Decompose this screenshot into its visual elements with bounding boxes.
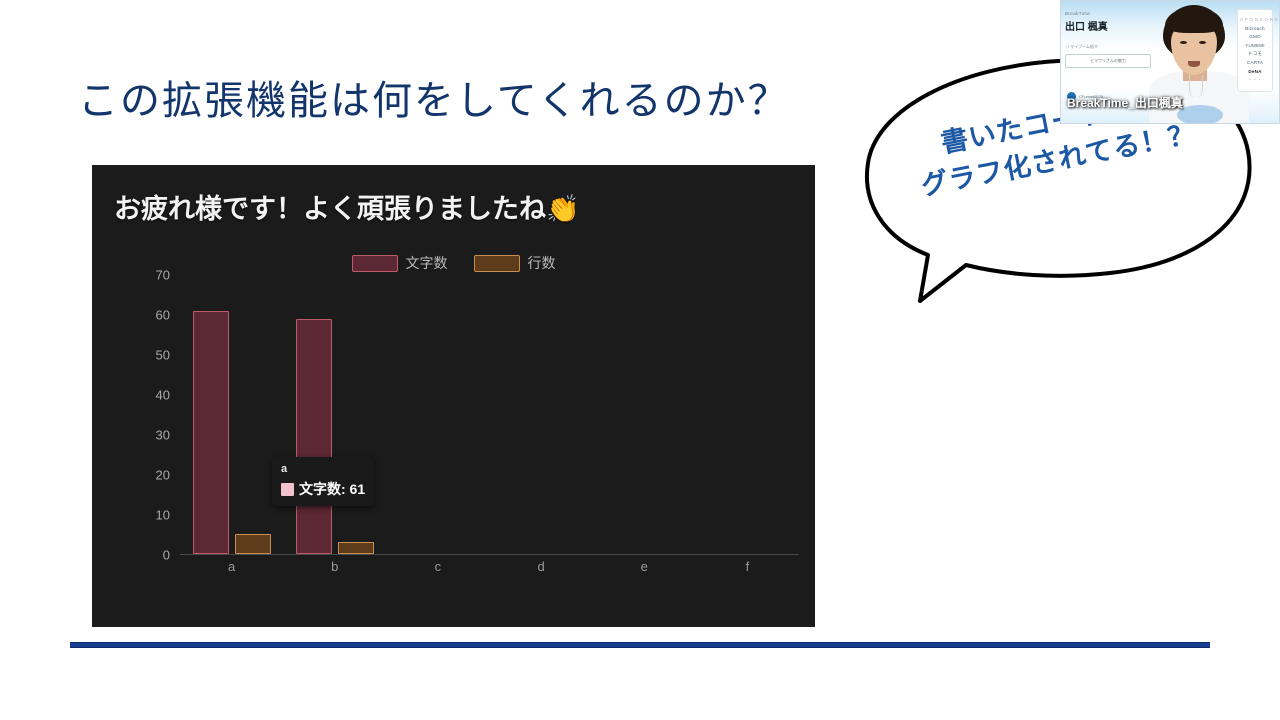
webcam-person-fringe	[1165, 7, 1223, 33]
plot-grid	[180, 275, 799, 555]
legend-label-chars: 文字数	[406, 253, 448, 273]
bar-a-lines[interactable]	[235, 534, 271, 554]
chart-legend: 文字数 行数	[92, 253, 815, 273]
y-axis-tick: 20	[156, 468, 170, 483]
bar-group[interactable]	[593, 275, 696, 554]
y-axis: 010203040506070	[140, 275, 174, 555]
y-axis-tick: 0	[163, 548, 170, 563]
bar-b-lines[interactable]	[338, 542, 374, 554]
x-axis-tick: c	[386, 555, 489, 579]
x-axis-tick: e	[593, 555, 696, 579]
sponsor-logo: YUMEMI	[1240, 43, 1270, 48]
sponsor-logo: DeNA	[1240, 69, 1270, 74]
x-axis: abcdef	[180, 555, 799, 579]
chart-heading: お疲れ様です！よく頑張りましたね👏	[114, 187, 580, 226]
bar-group[interactable]	[180, 275, 283, 554]
bar-a-chars[interactable]	[193, 311, 229, 554]
legend-item-lines[interactable]: 行数	[474, 253, 556, 273]
bar-group[interactable]	[696, 275, 799, 554]
sponsor-logo: ・・・	[1240, 77, 1270, 83]
sponsor-logo: Bizreach	[1240, 26, 1270, 31]
bar-group[interactable]	[386, 275, 489, 554]
legend-label-lines: 行数	[528, 253, 556, 273]
bar-group[interactable]	[490, 275, 593, 554]
tooltip-row: 文字数: 61	[281, 479, 365, 499]
x-axis-tick: d	[490, 555, 593, 579]
webcam-slide-card: BreakTime 出口 楓真 ↑↑ マイブーム紹介 ヒマワリさんの魅力	[1065, 11, 1151, 68]
webcam-slide-sub: ↑↑ マイブーム紹介	[1065, 44, 1151, 50]
legend-swatch-chars-icon	[352, 255, 398, 272]
page-title: この拡張機能は何をしてくれるのか？	[78, 68, 790, 126]
bar-group[interactable]	[283, 275, 386, 554]
bar-groups	[180, 275, 799, 554]
chart-panel: お疲れ様です！よく頑張りましたね👏 文字数 行数 010203040506070…	[92, 165, 815, 627]
tooltip-swatch-icon	[281, 483, 294, 496]
webcam-person-mouth	[1188, 61, 1200, 67]
bar-b-chars[interactable]	[296, 319, 332, 554]
y-axis-tick: 60	[156, 308, 170, 323]
webcam-person-eye-left	[1180, 41, 1187, 44]
webcam-slide-chip: ヒマワリさんの魅力	[1065, 54, 1151, 68]
webcam-person-earphone-cord	[1189, 75, 1203, 97]
sponsor-logo: GMO	[1240, 34, 1270, 39]
y-axis-tick: 10	[156, 508, 170, 523]
tooltip-title: a	[281, 463, 365, 475]
sponsor-logo: CARTA	[1240, 60, 1270, 65]
legend-item-chars[interactable]: 文字数	[352, 253, 448, 273]
y-axis-tick: 50	[156, 348, 170, 363]
legend-swatch-lines-icon	[474, 255, 520, 272]
sponsor-logo: ドコモ	[1240, 51, 1270, 57]
y-axis-tick: 30	[156, 428, 170, 443]
chart-tooltip: a 文字数: 61	[272, 457, 374, 506]
tooltip-value-text: 文字数: 61	[299, 479, 365, 499]
x-axis-tick: a	[180, 555, 283, 579]
plot-area: 010203040506070 abcdef	[140, 275, 799, 579]
y-axis-tick: 70	[156, 268, 170, 283]
webcam-slide-name: 出口 楓真	[1065, 18, 1151, 33]
x-axis-tick: b	[283, 555, 386, 579]
y-axis-tick: 40	[156, 388, 170, 403]
webcam-caption: BreakTime_出口楓真	[1061, 92, 1189, 113]
x-axis-tick: f	[696, 555, 799, 579]
webcam-overlay[interactable]: BreakTime 出口 楓真 ↑↑ マイブーム紹介 ヒマワリさんの魅力 S P…	[1060, 0, 1280, 124]
bottom-divider	[70, 642, 1210, 648]
sponsor-logo: S P O N S O R S	[1240, 17, 1270, 22]
webcam-sponsor-logo-card: S P O N S O R SBizreachGMOYUMEMIドコモCARTA…	[1237, 9, 1273, 92]
webcam-person-eye-right	[1199, 41, 1206, 44]
webcam-slide-brand: BreakTime	[1065, 11, 1151, 16]
